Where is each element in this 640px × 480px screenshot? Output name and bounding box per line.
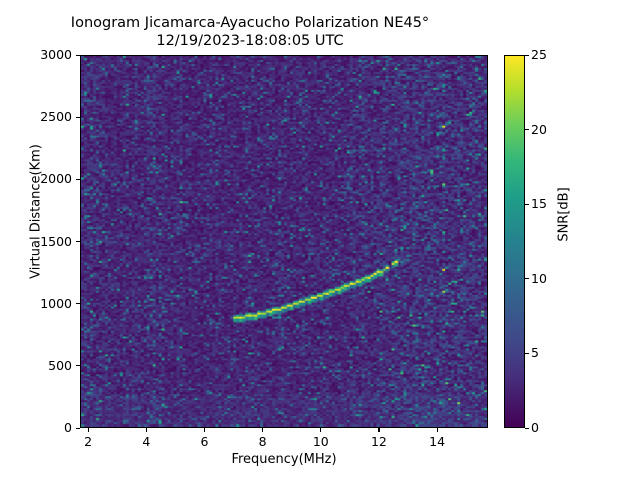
x-tick	[88, 428, 89, 432]
x-tick-label: 10	[301, 434, 341, 449]
x-tick	[204, 428, 205, 432]
x-tick-label: 12	[359, 434, 399, 449]
colorbar-tick	[525, 278, 529, 279]
colorbar-tick-label: 0	[531, 420, 539, 435]
y-tick	[76, 55, 80, 56]
y-tick	[76, 365, 80, 366]
y-axis-label: Virtual Distance(Km)	[29, 102, 44, 322]
y-tick-label: 500	[12, 358, 72, 373]
colorbar-tick	[525, 55, 529, 56]
y-tick-label: 3000	[12, 47, 72, 62]
x-axis-label: Frequency(MHz)	[80, 452, 488, 467]
y-tick	[76, 179, 80, 180]
colorbar-tick-label: 5	[531, 345, 539, 360]
x-tick-label: 14	[417, 434, 457, 449]
x-tick	[437, 428, 438, 432]
x-tick	[378, 428, 379, 432]
x-tick-label: 2	[68, 434, 108, 449]
colorbar-tick	[525, 428, 529, 429]
x-tick	[146, 428, 147, 432]
colorbar-label: SNR[dB]	[557, 135, 572, 295]
plot-area[interactable]	[80, 55, 488, 428]
chart-title: Ionogram Jicamarca-Ayacucho Polarization…	[0, 14, 500, 50]
y-tick	[76, 303, 80, 304]
x-tick-label: 8	[243, 434, 283, 449]
colorbar-tick-label: 20	[531, 122, 547, 137]
y-tick	[76, 117, 80, 118]
colorbar-tick	[525, 129, 529, 130]
x-tick	[262, 428, 263, 432]
colorbar-tick	[525, 204, 529, 205]
x-tick-label: 4	[126, 434, 166, 449]
x-tick-label: 6	[184, 434, 224, 449]
colorbar-tick-label: 25	[531, 47, 547, 62]
ionogram-figure: Ionogram Jicamarca-Ayacucho Polarization…	[0, 0, 640, 480]
y-tick	[76, 241, 80, 242]
y-tick	[76, 428, 80, 429]
colorbar-tick-label: 15	[531, 196, 547, 211]
ionogram-heatmap	[81, 56, 487, 427]
colorbar-tick	[525, 353, 529, 354]
x-tick	[320, 428, 321, 432]
y-tick-label: 0	[12, 420, 72, 435]
colorbar	[504, 55, 525, 428]
colorbar-tick-label: 10	[531, 271, 547, 286]
